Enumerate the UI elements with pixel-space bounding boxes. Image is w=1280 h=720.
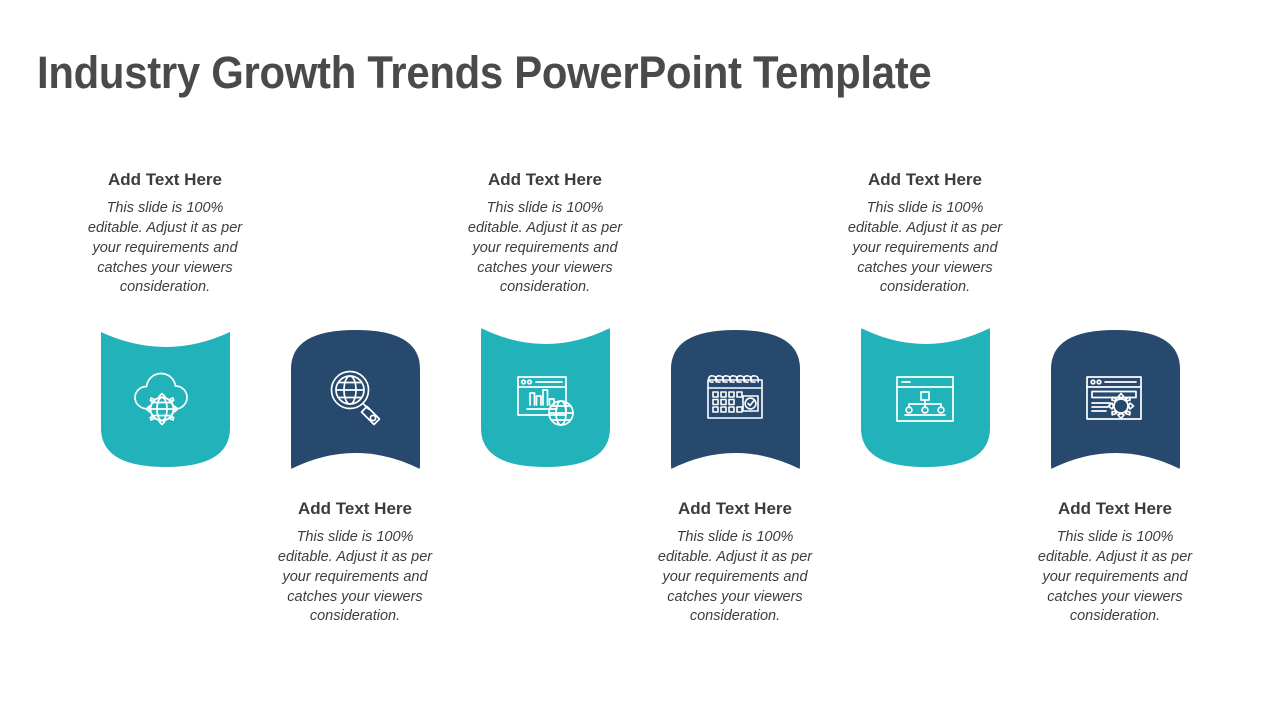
page-title: Industry Growth Trends PowerPoint Templa…	[37, 48, 931, 98]
item-body-2: This slide is 100% editable. Adjust it a…	[268, 528, 442, 627]
item-body-6: This slide is 100% editable. Adjust it a…	[1028, 528, 1202, 627]
infographic-item-6[interactable]: Add Text Here This slide is 100% editabl…	[1020, 170, 1210, 640]
infographic-item-5[interactable]: Add Text Here This slide is 100% editabl…	[830, 170, 1020, 640]
infographic-item-4[interactable]: Add Text Here This slide is 100% editabl…	[640, 170, 830, 640]
item-body-3: This slide is 100% editable. Adjust it a…	[458, 199, 632, 298]
item-heading-6: Add Text Here	[1028, 499, 1202, 519]
text-block-3: Add Text Here This slide is 100% editabl…	[450, 170, 640, 298]
item-heading-1: Add Text Here	[78, 170, 252, 190]
barrel-shape-5[interactable]	[861, 318, 990, 467]
text-block-5: Add Text Here This slide is 100% editabl…	[830, 170, 1020, 298]
infographic-item-2[interactable]: Add Text Here This slide is 100% editabl…	[260, 170, 450, 640]
item-heading-4: Add Text Here	[648, 499, 822, 519]
item-body-4: This slide is 100% editable. Adjust it a…	[648, 528, 822, 627]
barrel-shape-2[interactable]	[291, 330, 420, 479]
barrel-shape-4[interactable]	[671, 330, 800, 479]
barrel-shape-6[interactable]	[1051, 330, 1180, 479]
slide-canvas: Industry Growth Trends PowerPoint Templa…	[0, 0, 1280, 720]
barrel-shape-1[interactable]	[101, 318, 230, 467]
item-heading-3: Add Text Here	[458, 170, 632, 190]
item-body-5: This slide is 100% editable. Adjust it a…	[838, 199, 1012, 298]
infographic-item-1[interactable]: Add Text Here This slide is 100% editabl…	[70, 170, 260, 640]
text-block-6: Add Text Here This slide is 100% editabl…	[1020, 499, 1210, 627]
item-body-1: This slide is 100% editable. Adjust it a…	[78, 199, 252, 298]
barrel-shape-3[interactable]	[481, 318, 610, 467]
item-heading-2: Add Text Here	[268, 499, 442, 519]
infographic-item-3[interactable]: Add Text Here This slide is 100% editabl…	[450, 170, 640, 640]
text-block-2: Add Text Here This slide is 100% editabl…	[260, 499, 450, 627]
item-heading-5: Add Text Here	[838, 170, 1012, 190]
text-block-1: Add Text Here This slide is 100% editabl…	[70, 170, 260, 298]
text-block-4: Add Text Here This slide is 100% editabl…	[640, 499, 830, 627]
